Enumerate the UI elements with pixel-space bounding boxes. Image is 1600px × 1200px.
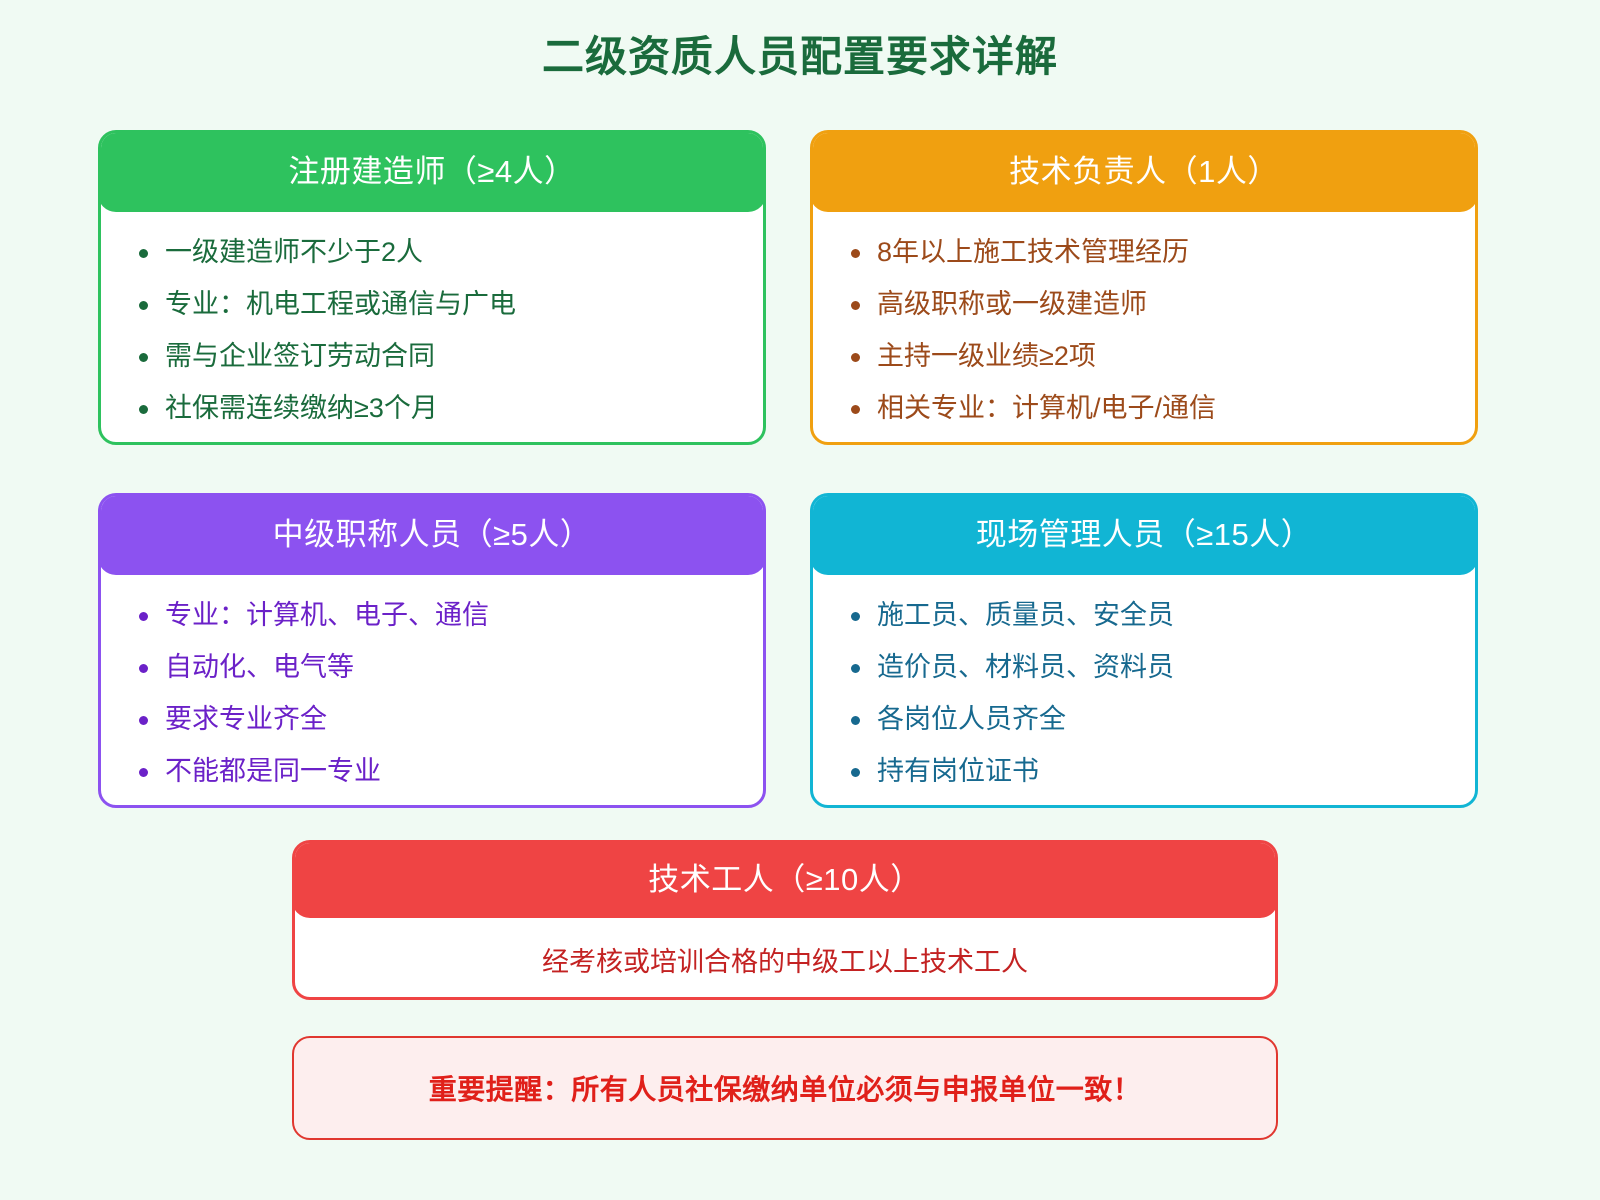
list-item-label: 高级职称或一级建造师 (877, 289, 1147, 319)
card-registered-builder: 注册建造师（≥4人） 一级建造师不少于2人 专业：机电工程或通信与广电 需与企业… (98, 130, 766, 445)
list-item: 专业：计算机、电子、通信 (137, 600, 737, 631)
list-item-label: 施工员、质量员、安全员 (877, 600, 1174, 630)
card-header-registered-builder: 注册建造师（≥4人） (98, 130, 766, 212)
bullet-dot-icon (139, 768, 148, 777)
bullet-list-intermediate-title-staff: 专业：计算机、电子、通信 自动化、电气等 要求专业齐全 不能都是同一专业 (137, 600, 737, 787)
bullet-dot-icon (851, 249, 860, 258)
list-item-label: 需与企业签订劳动合同 (165, 341, 435, 371)
card-body-site-management-staff: 施工员、质量员、安全员 造价员、材料员、资料员 各岗位人员齐全 持有岗位证书 (813, 578, 1475, 805)
list-item-label: 要求专业齐全 (165, 704, 327, 734)
bullet-dot-icon (139, 249, 148, 258)
bullet-dot-icon (851, 664, 860, 673)
list-item: 造价员、材料员、资料员 (849, 652, 1449, 683)
list-item-label: 一级建造师不少于2人 (165, 237, 423, 267)
list-item: 专业：机电工程或通信与广电 (137, 289, 737, 320)
card-body-registered-builder: 一级建造师不少于2人 专业：机电工程或通信与广电 需与企业签订劳动合同 社保需连… (101, 215, 763, 442)
card-grid: 注册建造师（≥4人） 一级建造师不少于2人 专业：机电工程或通信与广电 需与企业… (98, 130, 1478, 808)
card-header-technical-director: 技术负责人（1人） (810, 130, 1478, 212)
bullet-dot-icon (851, 301, 860, 310)
list-item: 持有岗位证书 (849, 756, 1449, 787)
bullet-list-site-management-staff: 施工员、质量员、安全员 造价员、材料员、资料员 各岗位人员齐全 持有岗位证书 (849, 600, 1449, 787)
list-item: 8年以上施工技术管理经历 (849, 237, 1449, 268)
card-body-intermediate-title-staff: 专业：计算机、电子、通信 自动化、电气等 要求专业齐全 不能都是同一专业 (101, 578, 763, 805)
card-technical-workers: 技术工人（≥10人） 经考核或培训合格的中级工以上技术工人 (292, 840, 1278, 1000)
list-item: 一级建造师不少于2人 (137, 237, 737, 268)
card-technical-director: 技术负责人（1人） 8年以上施工技术管理经历 高级职称或一级建造师 主持一级业绩… (810, 130, 1478, 445)
bullet-dot-icon (851, 353, 860, 362)
list-item-label: 专业：计算机、电子、通信 (165, 600, 489, 630)
list-item: 不能都是同一专业 (137, 756, 737, 787)
bullet-dot-icon (139, 301, 148, 310)
list-item-label: 持有岗位证书 (877, 756, 1039, 786)
bullet-dot-icon (139, 716, 148, 725)
bullet-dot-icon (851, 405, 860, 414)
bullet-dot-icon (139, 405, 148, 414)
list-item: 需与企业签订劳动合同 (137, 341, 737, 372)
list-item-label: 造价员、材料员、资料员 (877, 652, 1174, 682)
bullet-dot-icon (851, 716, 860, 725)
list-item-label: 相关专业：计算机/电子/通信 (877, 393, 1216, 423)
bullet-list-registered-builder: 一级建造师不少于2人 专业：机电工程或通信与广电 需与企业签订劳动合同 社保需连… (137, 237, 737, 424)
card-body-technical-director: 8年以上施工技术管理经历 高级职称或一级建造师 主持一级业绩≥2项 相关专业：计… (813, 215, 1475, 442)
card-header-technical-workers: 技术工人（≥10人） (292, 840, 1278, 918)
list-item: 要求专业齐全 (137, 704, 737, 735)
list-item: 高级职称或一级建造师 (849, 289, 1449, 320)
warning-text: 重要提醒：所有人员社保缴纳单位必须与申报单位一致！ (429, 1068, 1142, 1108)
card-header-site-management-staff: 现场管理人员（≥15人） (810, 493, 1478, 575)
bullet-dot-icon (851, 768, 860, 777)
list-item-label: 自动化、电气等 (165, 652, 354, 682)
list-item: 相关专业：计算机/电子/通信 (849, 393, 1449, 424)
bullet-dot-icon (139, 353, 148, 362)
card-note-technical-workers: 经考核或培训合格的中级工以上技术工人 (295, 921, 1275, 997)
list-item: 主持一级业绩≥2项 (849, 341, 1449, 372)
card-intermediate-title-staff: 中级职称人员（≥5人） 专业：计算机、电子、通信 自动化、电气等 要求专业齐全 (98, 493, 766, 808)
card-header-intermediate-title-staff: 中级职称人员（≥5人） (98, 493, 766, 575)
list-item-label: 8年以上施工技术管理经历 (877, 237, 1189, 267)
list-item: 施工员、质量员、安全员 (849, 600, 1449, 631)
list-item: 社保需连续缴纳≥3个月 (137, 393, 737, 424)
list-item-label: 专业：机电工程或通信与广电 (165, 289, 516, 319)
bullet-dot-icon (851, 612, 860, 621)
card-site-management-staff: 现场管理人员（≥15人） 施工员、质量员、安全员 造价员、材料员、资料员 各岗位… (810, 493, 1478, 808)
page-title: 二级资质人员配置要求详解 (0, 32, 1600, 82)
bullet-list-technical-director: 8年以上施工技术管理经历 高级职称或一级建造师 主持一级业绩≥2项 相关专业：计… (849, 237, 1449, 424)
list-item-label: 社保需连续缴纳≥3个月 (165, 393, 438, 423)
bullet-dot-icon (139, 612, 148, 621)
list-item-label: 主持一级业绩≥2项 (877, 341, 1096, 371)
list-item: 各岗位人员齐全 (849, 704, 1449, 735)
list-item: 自动化、电气等 (137, 652, 737, 683)
infographic-page: 二级资质人员配置要求详解 注册建造师（≥4人） 一级建造师不少于2人 专业：机电… (0, 0, 1600, 1200)
important-warning-box: 重要提醒：所有人员社保缴纳单位必须与申报单位一致！ (292, 1036, 1278, 1140)
list-item-label: 各岗位人员齐全 (877, 704, 1066, 734)
list-item-label: 不能都是同一专业 (165, 756, 381, 786)
bullet-dot-icon (139, 664, 148, 673)
